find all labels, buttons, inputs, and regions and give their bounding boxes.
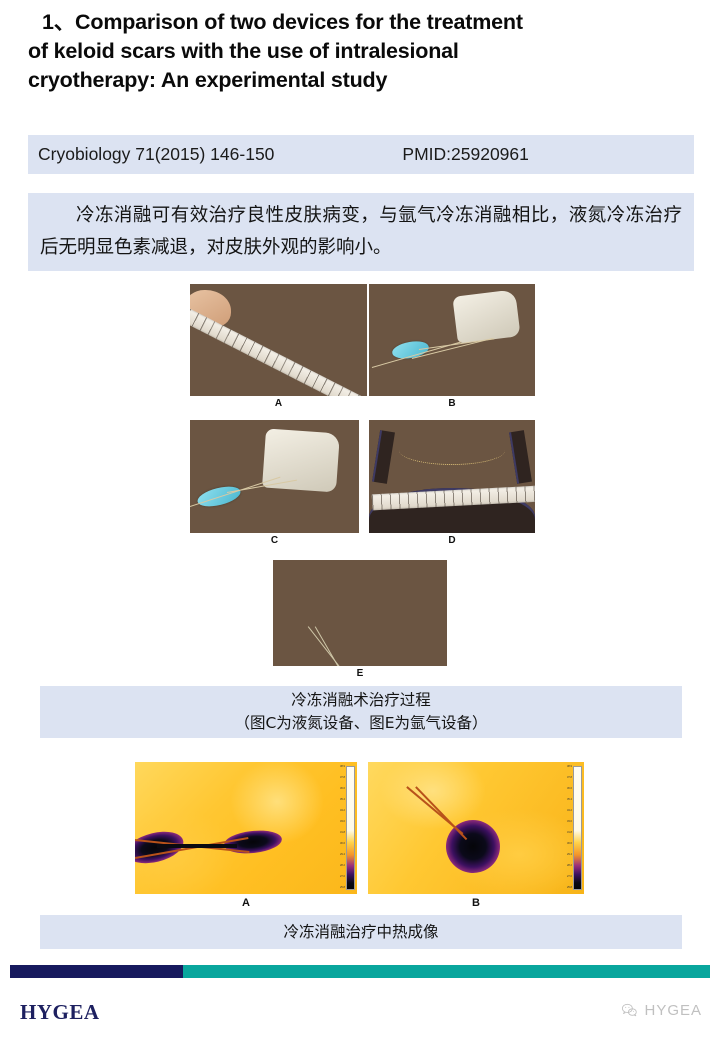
caption-thermal-text: 冷冻消融治疗中热成像 [283,921,438,944]
thermal-panel-b: 38.9 37.8 36.6 35.4 34.2 33.0 31.8 30.6 … [368,762,584,894]
photo-argon-gas-device [273,560,447,666]
thermal-colorbar-a [346,766,355,890]
caption-thermal: 冷冻消融治疗中热成像 [40,915,682,949]
footer-bar-teal [183,965,710,978]
title-line-2: of keloid scars with the use of intrales… [28,37,694,66]
footer-bar-navy [10,965,183,978]
figure-panel-label-a: A [190,398,367,409]
slide-root: 1、Comparison of two devices for the trea… [0,0,720,1040]
necklace-chain [399,436,505,465]
figure-panel-c: C [190,420,359,533]
thermal-image-liquid-nitrogen: 38.9 37.8 36.6 35.4 34.2 33.0 31.8 30.6 … [135,762,357,894]
thermal-panel-label-b: B [368,897,584,909]
figure-panel-label-d: D [369,535,535,546]
photo-keloid-chest [190,284,367,396]
journal-reference-bar: Cryobiology 71(2015) 146-150 PMID:259209… [28,135,694,174]
photo-cryoprobe-insertion [369,284,535,396]
surgical-drape [453,289,521,343]
summary-text: 冷冻消融可有效治疗良性皮肤病变，与氩气冷冻消融相比，液氮冷冻治疗后无明显色素减退… [40,200,682,264]
figure-panel-label-c: C [190,535,359,546]
caption-procedure-line1: 冷冻消融术治疗过程 [291,689,431,712]
summary-box: 冷冻消融可有效治疗良性皮肤病变，与氩气冷冻消融相比，液氮冷冻治疗后无明显色素减退… [28,193,694,271]
thermal-panel-label-a: A [135,897,357,909]
journal-citation: Cryobiology 71(2015) 146-150 [38,144,274,165]
title-line-1: 1、Comparison of two devices for the trea… [28,8,694,37]
thermal-panel-a: 38.9 37.8 36.6 35.4 34.2 33.0 31.8 30.6 … [135,762,357,894]
thermal-colorbar-ticks-b: 38.9 37.8 36.6 35.4 34.2 33.0 31.8 30.6 … [556,766,572,890]
photo-post-treatment-scar [369,420,535,533]
photo-liquid-nitrogen-device [190,420,359,533]
watermark: HYGEA [621,1002,702,1019]
cryoprobe-handle [391,339,430,361]
needle-2 [190,477,280,508]
cold-zone-2 [223,828,283,856]
garment-strap-right [509,430,532,484]
probe-shaft [157,844,237,848]
title-line-3: cryotherapy: An experimental study [28,66,694,95]
caption-procedure: 冷冻消融术治疗过程 （图C为液氮设备、图E为氩气设备） [40,686,682,738]
thermal-colorbar-ticks-a: 38.9 37.8 36.6 35.4 34.2 33.0 31.8 30.6 … [329,766,345,890]
figure-panel-b: B [369,284,535,396]
figure-panel-a: A [190,284,367,396]
footer-logo: HYGEA [20,1000,100,1025]
pmid-label: PMID:25920961 [402,144,528,165]
needle-1 [307,626,351,666]
figure-panel-e: E [273,560,447,666]
thermal-colorbar-b [573,766,582,890]
watermark-text: HYGEA [644,1002,702,1019]
caption-procedure-line2: （图C为液氮设备、图E为氩气设备） [234,712,487,735]
probe-needle-2 [415,786,467,840]
wechat-icon [621,1002,638,1019]
figure-panel-label-b: B [369,398,535,409]
figure-panel-label-e: E [273,668,447,679]
garment-strap-left [372,430,395,484]
thermal-image-argon-gas: 38.9 37.8 36.6 35.4 34.2 33.0 31.8 30.6 … [368,762,584,894]
needle-2 [314,626,352,666]
figure-panel-d: D [369,420,535,533]
page-title: 1、Comparison of two devices for the trea… [28,8,694,95]
